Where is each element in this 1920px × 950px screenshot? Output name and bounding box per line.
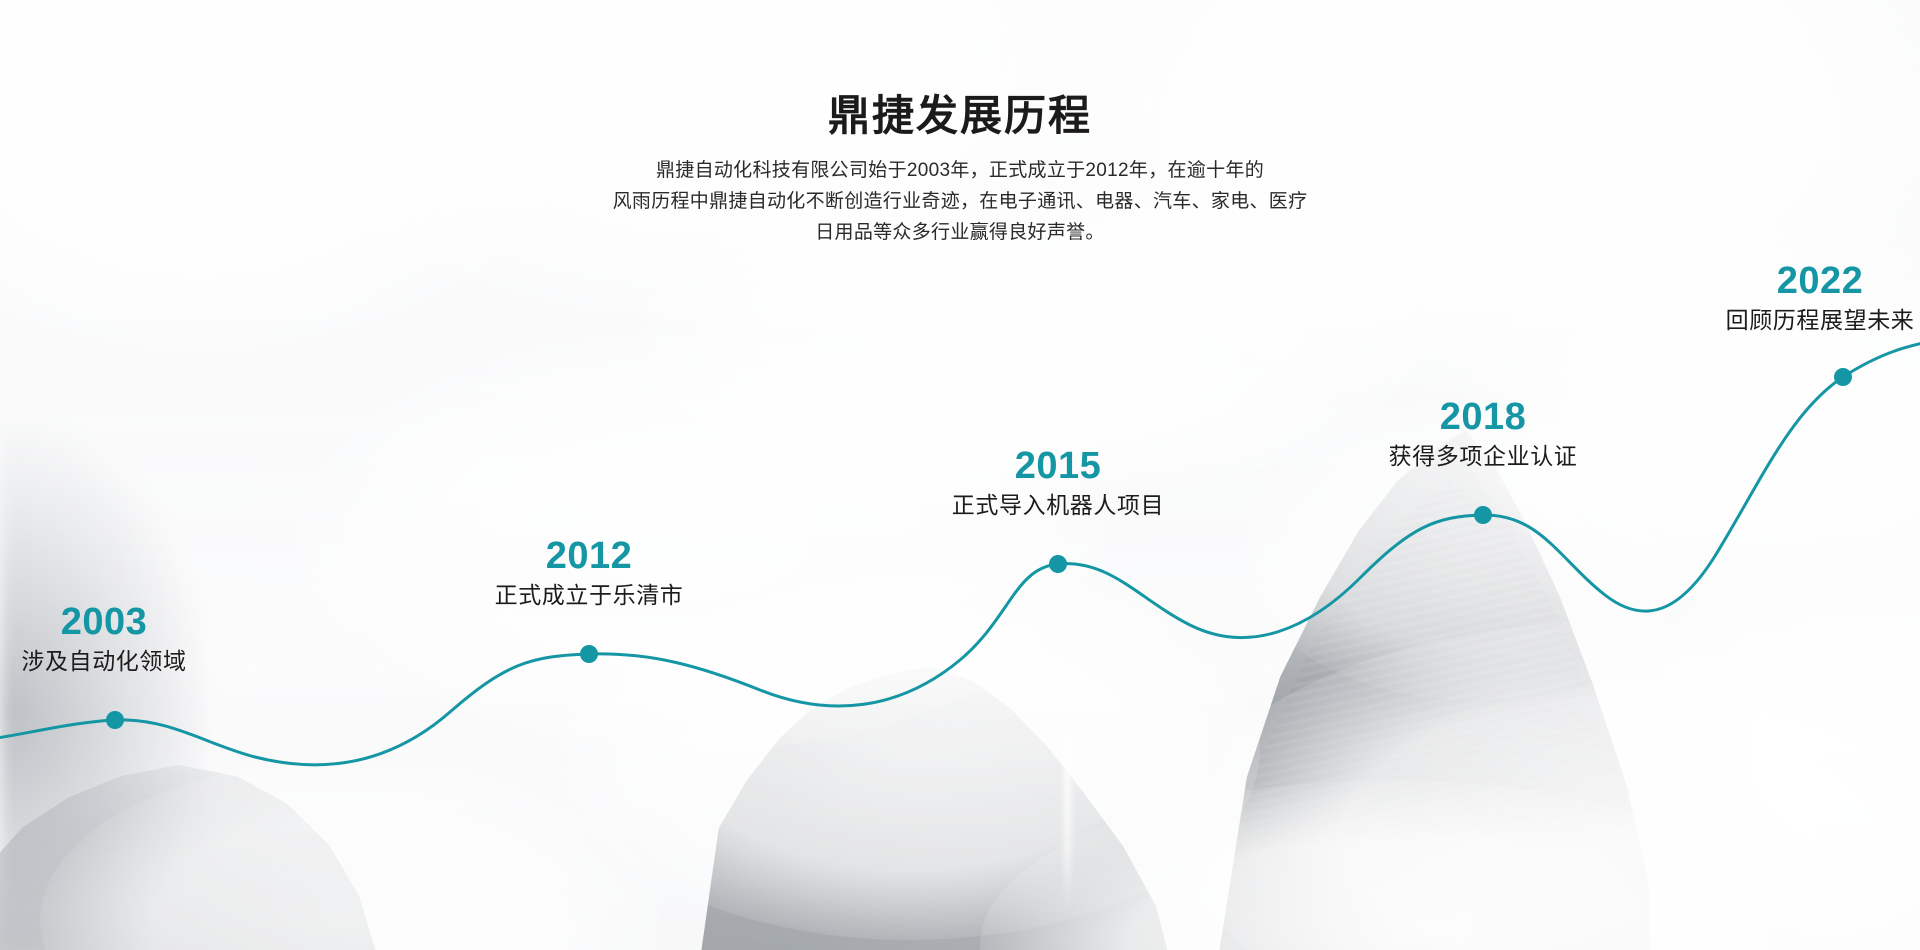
subtitle-line: 风雨历程中鼎捷自动化不断创造行业奇迹，在电子通讯、电器、汽车、家电、医疗 — [0, 187, 1920, 218]
milestone-year: 2003 — [21, 603, 186, 643]
milestone-year: 2012 — [495, 537, 684, 577]
subtitle-line: 日用品等众多行业赢得良好声誉。 — [0, 218, 1920, 249]
milestone-year: 2022 — [1726, 262, 1915, 302]
slide-canvas: 鼎捷发展历程 鼎捷自动化科技有限公司始于2003年，正式成立于2012年，在逾十… — [0, 0, 1920, 950]
header: 鼎捷发展历程 鼎捷自动化科技有限公司始于2003年，正式成立于2012年，在逾十… — [0, 92, 1920, 249]
milestone-year: 2018 — [1389, 398, 1578, 438]
subtitle-line: 鼎捷自动化科技有限公司始于2003年，正式成立于2012年，在逾十年的 — [0, 156, 1920, 187]
milestone-2018[interactable]: 2018获得多项企业认证 — [1389, 398, 1578, 471]
page-subtitle: 鼎捷自动化科技有限公司始于2003年，正式成立于2012年，在逾十年的 风雨历程… — [0, 156, 1920, 248]
milestone-caption: 正式成立于乐清市 — [495, 581, 684, 610]
milestone-2022[interactable]: 2022回顾历程展望未来 — [1726, 262, 1915, 335]
timeline-node-2012[interactable] — [580, 645, 598, 663]
milestone-year: 2015 — [952, 447, 1164, 487]
milestone-2012[interactable]: 2012正式成立于乐清市 — [495, 537, 684, 610]
milestone-2015[interactable]: 2015正式导入机器人项目 — [952, 447, 1164, 520]
milestone-caption: 获得多项企业认证 — [1389, 442, 1578, 471]
milestone-caption: 涉及自动化领域 — [21, 647, 186, 676]
milestone-caption: 正式导入机器人项目 — [952, 491, 1164, 520]
milestone-caption: 回顾历程展望未来 — [1726, 306, 1915, 335]
timeline-dots — [106, 368, 1852, 729]
timeline-node-2003[interactable] — [106, 711, 124, 729]
timeline-node-2022[interactable] — [1834, 368, 1852, 386]
milestone-2003[interactable]: 2003涉及自动化领域 — [21, 603, 186, 676]
timeline-path — [0, 338, 1920, 765]
timeline-node-2018[interactable] — [1474, 506, 1492, 524]
page-title: 鼎捷发展历程 — [0, 92, 1920, 140]
timeline-node-2015[interactable] — [1049, 555, 1067, 573]
